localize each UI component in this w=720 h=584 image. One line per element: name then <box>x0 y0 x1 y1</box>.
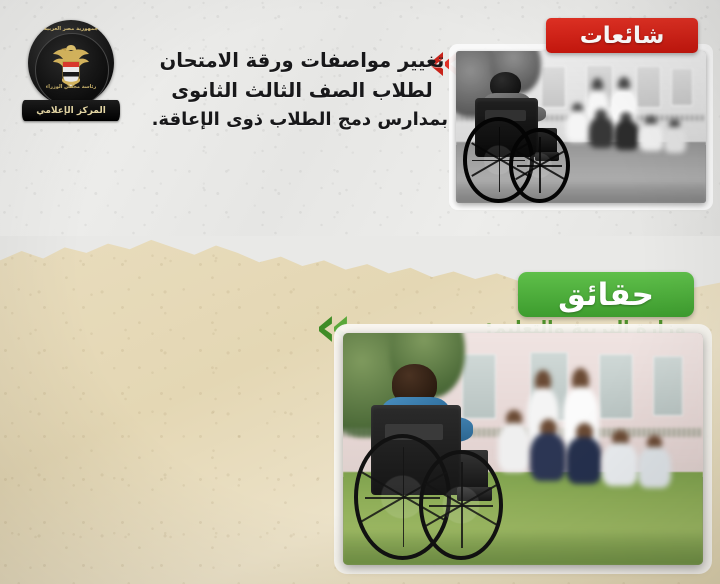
rumor-text-block: تغيير مواصفات ورقة الامتحان لطلاب الصف ا… <box>156 46 448 134</box>
photo-window <box>653 356 684 416</box>
photo-child <box>530 419 566 482</box>
photo-wheelchair-wheel <box>509 128 570 203</box>
logo-banner: المركز الإعلامي <box>22 100 120 121</box>
rumor-line-2: لطلاب الصف الثالث الثانوى <box>156 76 448 106</box>
photo-window <box>671 68 693 106</box>
photo-child <box>589 109 614 149</box>
fact-photo-scene <box>343 333 703 565</box>
logo-banner-label: المركز الإعلامي <box>36 106 106 116</box>
rumor-line-1: تغيير مواصفات ورقة الامتحان <box>156 46 448 76</box>
photo-child <box>566 423 602 483</box>
photo-wheelchair <box>461 66 581 200</box>
infographic-poster: جمهورية مصر العربية رئاسة مجلس الوزراء ا… <box>0 0 720 584</box>
fact-badge-label: حقائق <box>558 277 654 313</box>
photo-window <box>636 66 661 108</box>
photo-wheelchair <box>350 356 523 560</box>
eagle-of-saladin-icon <box>50 42 92 88</box>
rumor-line-3: بمدارس دمج الطلاب ذوى الإعاقة. <box>156 106 448 134</box>
government-logo: جمهورية مصر العربية رئاسة مجلس الوزراء ا… <box>22 20 120 124</box>
photo-child <box>639 116 664 151</box>
logo-arc-bottom-text: رئاسة مجلس الوزراء <box>28 84 114 90</box>
rumor-photo <box>456 51 706 203</box>
photo-child <box>614 112 639 150</box>
fact-photo <box>343 333 703 565</box>
photo-wheelchair-wheel <box>419 450 503 560</box>
photo-child <box>602 430 638 486</box>
fact-badge: حقائق <box>518 272 694 317</box>
rumor-photo-scene <box>456 51 706 203</box>
photo-child <box>664 119 687 152</box>
rumor-badge-label: شائعات <box>580 23 665 49</box>
logo-arc-top-text: جمهورية مصر العربية <box>28 26 114 32</box>
photo-child <box>638 435 670 488</box>
photo-window <box>599 354 633 419</box>
rumor-badge: شائعات <box>546 18 698 53</box>
